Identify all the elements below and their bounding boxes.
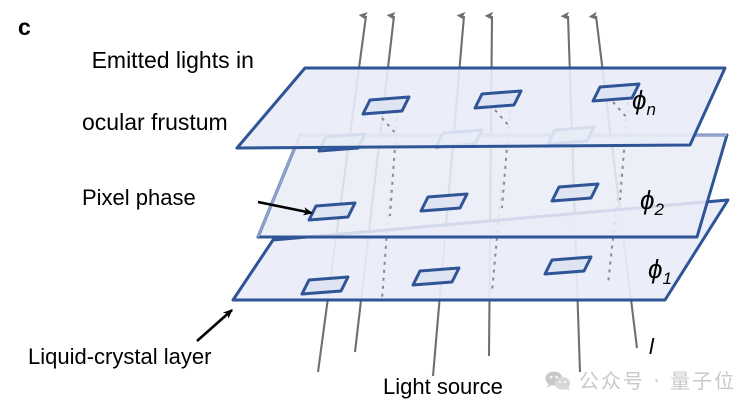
watermark: 公众号 · 量子位 — [545, 370, 736, 392]
pixel-bottom-3 — [545, 257, 591, 274]
phase-subscript-bottom: 1 — [662, 269, 671, 288]
pixel-middle-2 — [421, 194, 467, 211]
pixel-bottom-2 — [413, 268, 459, 285]
label-light-source: Light source — [383, 374, 503, 400]
label-ray-symbol: l — [649, 334, 654, 360]
panel-letter: c — [18, 14, 31, 41]
figure-root: c Emitted lights in ocular frustum Pixel… — [0, 0, 742, 414]
page-title: Emitted lights in ocular frustum — [66, 14, 254, 200]
label-liquid-crystal-layer: Liquid-crystal layer — [28, 344, 211, 370]
phase-subscript-middle: 2 — [654, 200, 663, 219]
pixel-top-1 — [363, 97, 409, 114]
phase-symbol-bottom: ϕ — [648, 254, 662, 284]
phase-symbol-middle: ϕ — [640, 185, 654, 215]
watermark-text: 公众号 · 量子位 — [579, 371, 736, 391]
pixel-top-2 — [475, 91, 521, 108]
title-line-2: ocular frustum — [66, 107, 254, 138]
wechat-icon — [545, 370, 571, 392]
pixel-middle-3 — [552, 184, 598, 201]
phase-subscript-top: n — [646, 100, 655, 119]
liquid-crystal-pointer-arrow — [197, 310, 232, 341]
phase-label-bottom: ϕ1 — [648, 254, 672, 289]
pixel-bottom-1 — [302, 277, 348, 294]
pixel-middle-1 — [309, 203, 355, 220]
title-line-1: Emitted lights in — [92, 47, 254, 73]
phase-symbol-top: ϕ — [632, 85, 646, 115]
phase-label-top: ϕn — [632, 85, 656, 120]
phase-label-middle: ϕ2 — [640, 185, 664, 220]
label-pixel-phase: Pixel phase — [82, 185, 196, 211]
